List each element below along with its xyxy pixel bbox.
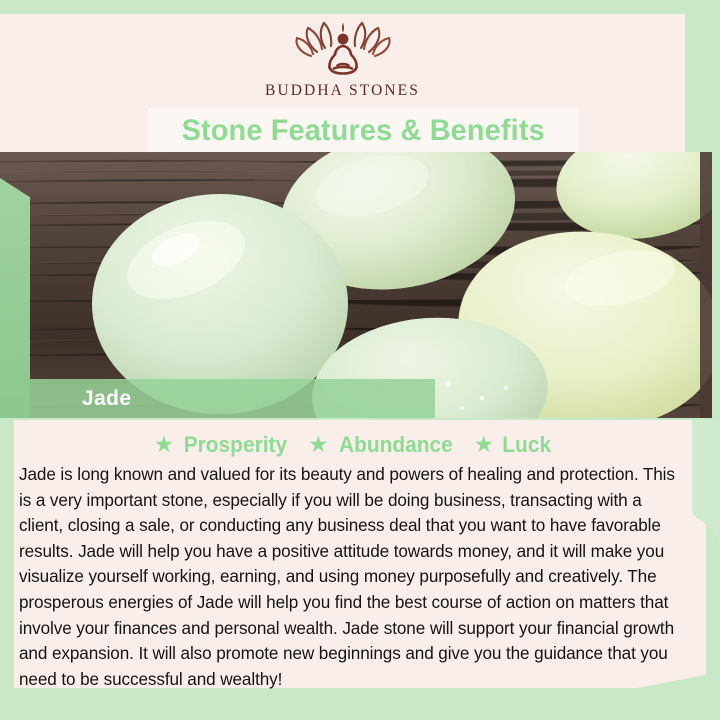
infographic-page: BUDDHA STONES Stone Features & Benefits bbox=[0, 0, 720, 720]
benefit-item-luck: ★ Luck bbox=[473, 432, 552, 458]
benefit-label: Abundance bbox=[339, 432, 453, 458]
star-icon: ★ bbox=[473, 433, 494, 456]
description-paragraph: Jade is long known and valued for its be… bbox=[19, 462, 681, 692]
brand-logo: BUDDHA STONES bbox=[0, 18, 685, 110]
title-banner: Stone Features & Benefits bbox=[148, 108, 578, 154]
photo-left-accent bbox=[0, 178, 30, 418]
brand-name: BUDDHA STONES bbox=[265, 82, 420, 100]
benefit-item-prosperity: ★ Prosperity bbox=[154, 432, 290, 458]
benefit-label: Prosperity bbox=[184, 432, 287, 458]
lotus-meditation-icon bbox=[291, 18, 395, 80]
star-icon: ★ bbox=[308, 433, 329, 456]
bottom-accent-band bbox=[0, 688, 720, 720]
stone-name-label: Jade bbox=[82, 387, 131, 411]
star-icon: ★ bbox=[154, 433, 175, 456]
benefit-label: Luck bbox=[502, 432, 551, 458]
stone-name-bar: Jade bbox=[30, 379, 435, 418]
page-title: Stone Features & Benefits bbox=[181, 114, 544, 148]
benefit-item-abundance: ★ Abundance bbox=[308, 432, 455, 458]
benefits-row: ★ Prosperity ★ Abundance ★ Luck bbox=[14, 431, 692, 459]
